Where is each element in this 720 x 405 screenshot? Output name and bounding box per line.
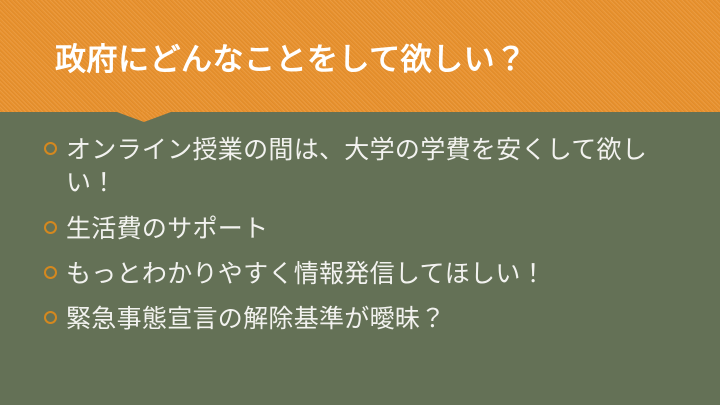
ring-bullet-icon bbox=[44, 221, 57, 234]
header-notch-triangle-icon bbox=[117, 112, 171, 122]
ring-bullet-icon bbox=[44, 142, 57, 155]
list-item-label: もっとわかりやすく情報発信してほしい！ bbox=[66, 257, 684, 290]
list-item-label: オンライン授業の間は、大学の学費を安くして欲しい！ bbox=[66, 133, 666, 200]
ring-bullet-icon bbox=[44, 311, 57, 324]
list-item: 緊急事態宣言の解除基準が曖昧？ bbox=[44, 302, 684, 335]
list-item: 生活費のサポート bbox=[44, 212, 684, 245]
list-item-label: 生活費のサポート bbox=[66, 212, 684, 245]
ring-bullet-icon bbox=[44, 266, 57, 279]
list-item: もっとわかりやすく情報発信してほしい！ bbox=[44, 257, 684, 290]
presentation-slide: 政府にどんなことをして欲しい？ オンライン授業の間は、大学の学費を安くして欲しい… bbox=[0, 0, 720, 405]
page-title: 政府にどんなことをして欲しい？ bbox=[55, 41, 675, 80]
list-item: オンライン授業の間は、大学の学費を安くして欲しい！ bbox=[44, 133, 684, 200]
list-item-label: 緊急事態宣言の解除基準が曖昧？ bbox=[66, 302, 684, 335]
bullet-list: オンライン授業の間は、大学の学費を安くして欲しい！ 生活費のサポート もっとわか… bbox=[44, 133, 684, 347]
